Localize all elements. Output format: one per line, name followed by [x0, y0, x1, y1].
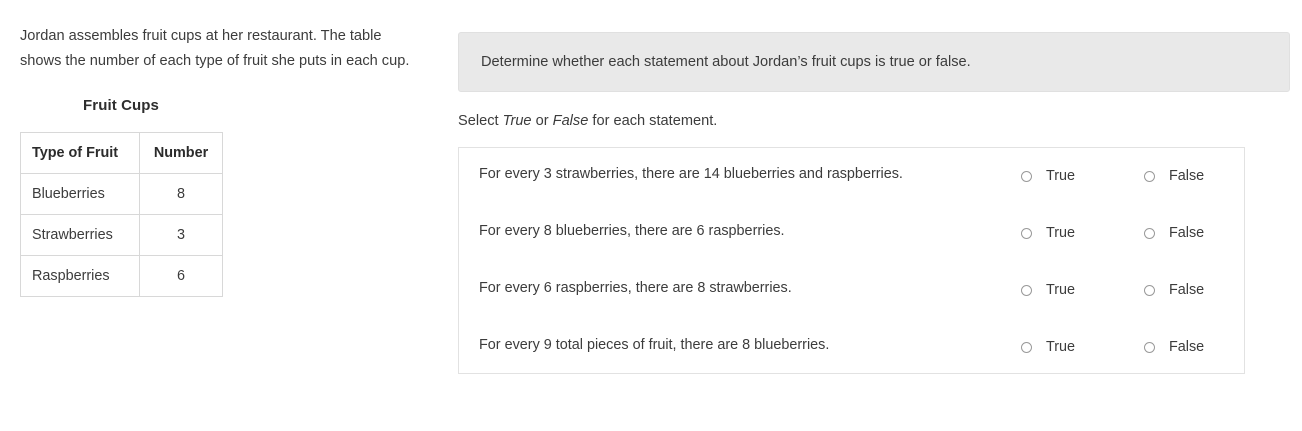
- statement-row: For every 3 strawberries, there are 14 b…: [459, 162, 1244, 190]
- choice-label-false: False: [1169, 282, 1204, 298]
- choice-label-true: True: [1046, 225, 1075, 241]
- statement-row: For every 8 blueberries, there are 6 ras…: [459, 219, 1244, 247]
- statements-card: For every 3 strawberries, there are 14 b…: [458, 147, 1245, 374]
- statement-3-true-option[interactable]: True: [1021, 333, 1075, 361]
- statement-text: For every 3 strawberries, there are 14 b…: [479, 166, 903, 182]
- table-row: Blueberries 8: [21, 174, 223, 215]
- problem-panel: Jordan assembles fruit cups at her resta…: [20, 24, 430, 297]
- table-title: Fruit Cups: [20, 97, 222, 114]
- cell-fruit-type: Strawberries: [21, 215, 140, 256]
- radio-button-icon[interactable]: [1144, 228, 1155, 239]
- choice-label-false: False: [1169, 225, 1204, 241]
- cell-fruit-type: Blueberries: [21, 174, 140, 215]
- select-instruction: Select True or False for each statement.: [458, 113, 717, 129]
- select-instruction-false: False: [553, 113, 589, 129]
- radio-button-icon[interactable]: [1021, 285, 1032, 296]
- statement-2-false-option[interactable]: False: [1144, 276, 1204, 304]
- choice-label-true: True: [1046, 168, 1075, 184]
- statement-2-true-option[interactable]: True: [1021, 276, 1075, 304]
- question-panel: Determine whether each statement about J…: [458, 0, 1292, 431]
- select-instruction-true: True: [503, 113, 532, 129]
- statement-0-true-option[interactable]: True: [1021, 162, 1075, 190]
- statement-row: For every 6 raspberries, there are 8 str…: [459, 276, 1244, 304]
- table-row: Strawberries 3: [21, 215, 223, 256]
- radio-button-icon[interactable]: [1021, 228, 1032, 239]
- statement-text: For every 9 total pieces of fruit, there…: [479, 337, 829, 353]
- statement-text: For every 6 raspberries, there are 8 str…: [479, 280, 792, 296]
- choice-label-true: True: [1046, 339, 1075, 355]
- problem-stem: Jordan assembles fruit cups at her resta…: [20, 24, 422, 74]
- table-row: Raspberries 6: [21, 256, 223, 297]
- directions-banner: Determine whether each statement about J…: [458, 32, 1290, 92]
- radio-button-icon[interactable]: [1021, 171, 1032, 182]
- statement-1-true-option[interactable]: True: [1021, 219, 1075, 247]
- select-instruction-suffix: for each statement.: [588, 113, 717, 129]
- statement-1-false-option[interactable]: False: [1144, 219, 1204, 247]
- statement-0-false-option[interactable]: False: [1144, 162, 1204, 190]
- statement-row: For every 9 total pieces of fruit, there…: [459, 333, 1244, 361]
- choice-label-true: True: [1046, 282, 1075, 298]
- directions-text: Determine whether each statement about J…: [481, 54, 971, 70]
- cell-fruit-number: 8: [140, 174, 223, 215]
- radio-button-icon[interactable]: [1144, 171, 1155, 182]
- select-instruction-middle: or: [532, 113, 553, 129]
- column-header-type-of-fruit: Type of Fruit: [21, 133, 140, 174]
- choice-label-false: False: [1169, 168, 1204, 184]
- column-header-number: Number: [140, 133, 223, 174]
- statement-text: For every 8 blueberries, there are 6 ras…: [479, 223, 785, 239]
- select-instruction-prefix: Select: [458, 113, 503, 129]
- cell-fruit-number: 6: [140, 256, 223, 297]
- cell-fruit-number: 3: [140, 215, 223, 256]
- choice-label-false: False: [1169, 339, 1204, 355]
- cell-fruit-type: Raspberries: [21, 256, 140, 297]
- radio-button-icon[interactable]: [1144, 342, 1155, 353]
- fruit-cups-table: Type of Fruit Number Blueberries 8 Straw…: [20, 132, 223, 297]
- table-header-row: Type of Fruit Number: [21, 133, 223, 174]
- radio-button-icon[interactable]: [1144, 285, 1155, 296]
- radio-button-icon[interactable]: [1021, 342, 1032, 353]
- statement-3-false-option[interactable]: False: [1144, 333, 1204, 361]
